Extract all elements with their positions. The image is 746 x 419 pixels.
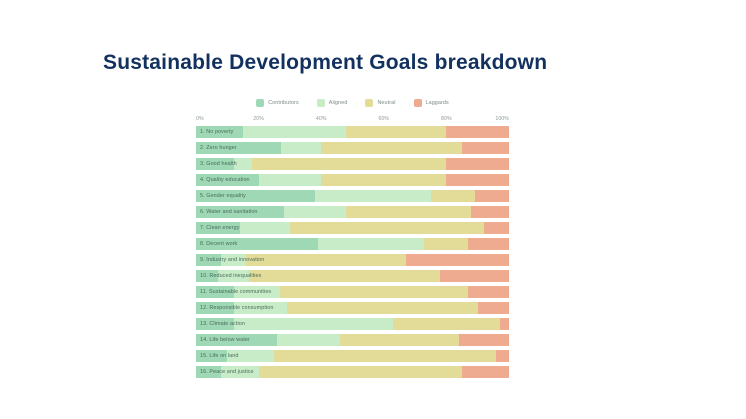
bar-segment-aligned[interactable] [234, 286, 281, 298]
bar-segment-contributors[interactable] [196, 350, 227, 362]
bar-segment-neutral[interactable] [321, 142, 462, 154]
legend-label: Aligned [329, 100, 348, 106]
x-axis-tick-label: 0% [196, 116, 204, 122]
bar-segment-laggards[interactable] [496, 350, 509, 362]
bar-segment-laggards[interactable] [471, 206, 509, 218]
bar-segment-neutral[interactable] [274, 350, 496, 362]
bar-segment-contributors[interactable] [196, 302, 234, 314]
chart-bar-row[interactable]: 4. Quality education [196, 174, 509, 186]
chart-bars-container: 1. No poverty2. Zero hunger3. Good healt… [196, 126, 509, 378]
chart-bar-row[interactable]: 1. No poverty [196, 126, 509, 138]
bar-segment-laggards[interactable] [462, 142, 509, 154]
bar-segment-contributors[interactable] [196, 222, 240, 234]
bar-segment-aligned[interactable] [318, 238, 424, 250]
bar-segment-contributors[interactable] [196, 206, 284, 218]
bar-segment-laggards[interactable] [446, 174, 509, 186]
legend-item[interactable]: Laggards [414, 99, 449, 107]
bar-segment-neutral[interactable] [393, 318, 499, 330]
legend-swatch-icon [365, 99, 373, 107]
bar-segment-aligned[interactable] [240, 222, 290, 234]
x-axis-tick-label: 20% [253, 116, 264, 122]
bar-segment-laggards[interactable] [459, 334, 509, 346]
chart-plot-area: 0%20%40%60%80%100% 1. No poverty2. Zero … [196, 116, 509, 382]
bar-segment-aligned[interactable] [234, 318, 394, 330]
bar-segment-contributors[interactable] [196, 254, 221, 266]
legend-item[interactable]: Aligned [317, 99, 348, 107]
slide-canvas: Sustainable Development Goals breakdown … [0, 0, 746, 419]
chart-bar-row[interactable]: 11. Sustainable communities [196, 286, 509, 298]
legend-label: Laggards [426, 100, 449, 106]
bar-segment-neutral[interactable] [290, 222, 484, 234]
chart-bar-row[interactable]: 12. Responsible consumption [196, 302, 509, 314]
x-axis-tick-label: 100% [495, 116, 509, 122]
chart-legend: ContributorsAlignedNeutralLaggards [196, 99, 509, 107]
bar-segment-contributors[interactable] [196, 142, 281, 154]
bar-segment-contributors[interactable] [196, 238, 318, 250]
bar-segment-aligned[interactable] [259, 174, 322, 186]
chart-bar-row[interactable]: 2. Zero hunger [196, 142, 509, 154]
bar-segment-neutral[interactable] [252, 158, 446, 170]
bar-segment-contributors[interactable] [196, 158, 234, 170]
page-title: Sustainable Development Goals breakdown [103, 51, 547, 75]
bar-segment-aligned[interactable] [284, 206, 347, 218]
bar-segment-neutral[interactable] [340, 334, 459, 346]
chart-bar-row[interactable]: 5. Gender equality [196, 190, 509, 202]
bar-segment-laggards[interactable] [406, 254, 509, 266]
chart-bar-row[interactable]: 13. Climate action [196, 318, 509, 330]
bar-segment-contributors[interactable] [196, 126, 243, 138]
bar-segment-aligned[interactable] [221, 254, 246, 266]
bar-segment-contributors[interactable] [196, 318, 234, 330]
bar-segment-neutral[interactable] [431, 190, 475, 202]
bar-segment-aligned[interactable] [218, 270, 249, 282]
bar-segment-contributors[interactable] [196, 286, 234, 298]
bar-segment-laggards[interactable] [468, 238, 509, 250]
chart-bar-row[interactable]: 8. Decent work [196, 238, 509, 250]
x-axis-tick-label: 80% [441, 116, 452, 122]
chart-bar-row[interactable]: 15. Life on land [196, 350, 509, 362]
bar-segment-contributors[interactable] [196, 366, 221, 378]
chart-bar-row[interactable]: 7. Clean energy [196, 222, 509, 234]
bar-segment-contributors[interactable] [196, 334, 277, 346]
chart-bar-row[interactable]: 10. Reduced inequalities [196, 270, 509, 282]
bar-segment-aligned[interactable] [221, 366, 259, 378]
bar-segment-contributors[interactable] [196, 270, 218, 282]
x-axis-tick-label: 60% [378, 116, 389, 122]
bar-segment-aligned[interactable] [315, 190, 431, 202]
legend-item[interactable]: Contributors [256, 99, 299, 107]
bar-segment-neutral[interactable] [280, 286, 468, 298]
bar-segment-laggards[interactable] [446, 126, 509, 138]
x-axis-tick-label: 40% [316, 116, 327, 122]
bar-segment-laggards[interactable] [500, 318, 509, 330]
legend-label: Neutral [377, 100, 395, 106]
chart-x-axis: 0%20%40%60%80%100% [196, 116, 509, 126]
chart-bar-row[interactable]: 6. Water and sanitation [196, 206, 509, 218]
bar-segment-neutral[interactable] [259, 366, 462, 378]
bar-segment-neutral[interactable] [249, 270, 440, 282]
legend-swatch-icon [256, 99, 264, 107]
chart-bar-row[interactable]: 14. Life below water [196, 334, 509, 346]
legend-swatch-icon [414, 99, 422, 107]
bar-segment-neutral[interactable] [346, 206, 471, 218]
bar-segment-neutral[interactable] [321, 174, 446, 186]
legend-swatch-icon [317, 99, 325, 107]
bar-segment-laggards[interactable] [446, 158, 509, 170]
bar-segment-laggards[interactable] [462, 366, 509, 378]
bar-segment-neutral[interactable] [246, 254, 406, 266]
bar-segment-contributors[interactable] [196, 190, 315, 202]
bar-segment-neutral[interactable] [424, 238, 468, 250]
bar-segment-neutral[interactable] [346, 126, 446, 138]
legend-label: Contributors [268, 100, 299, 106]
bar-segment-aligned[interactable] [277, 334, 340, 346]
bar-segment-laggards[interactable] [475, 190, 509, 202]
bar-segment-aligned[interactable] [234, 158, 253, 170]
chart-bar-row[interactable]: 16. Peace and justice [196, 366, 509, 378]
bar-segment-laggards[interactable] [468, 286, 509, 298]
chart-bar-row[interactable]: 9. Industry and innovation [196, 254, 509, 266]
chart-bar-row[interactable]: 3. Good health [196, 158, 509, 170]
bar-segment-aligned[interactable] [227, 350, 274, 362]
legend-item[interactable]: Neutral [365, 99, 395, 107]
bar-segment-laggards[interactable] [440, 270, 509, 282]
bar-segment-laggards[interactable] [484, 222, 509, 234]
bar-segment-aligned[interactable] [234, 302, 287, 314]
bar-segment-laggards[interactable] [478, 302, 509, 314]
bar-segment-aligned[interactable] [281, 142, 322, 154]
bar-segment-neutral[interactable] [287, 302, 478, 314]
bar-segment-contributors[interactable] [196, 174, 259, 186]
bar-segment-aligned[interactable] [243, 126, 346, 138]
